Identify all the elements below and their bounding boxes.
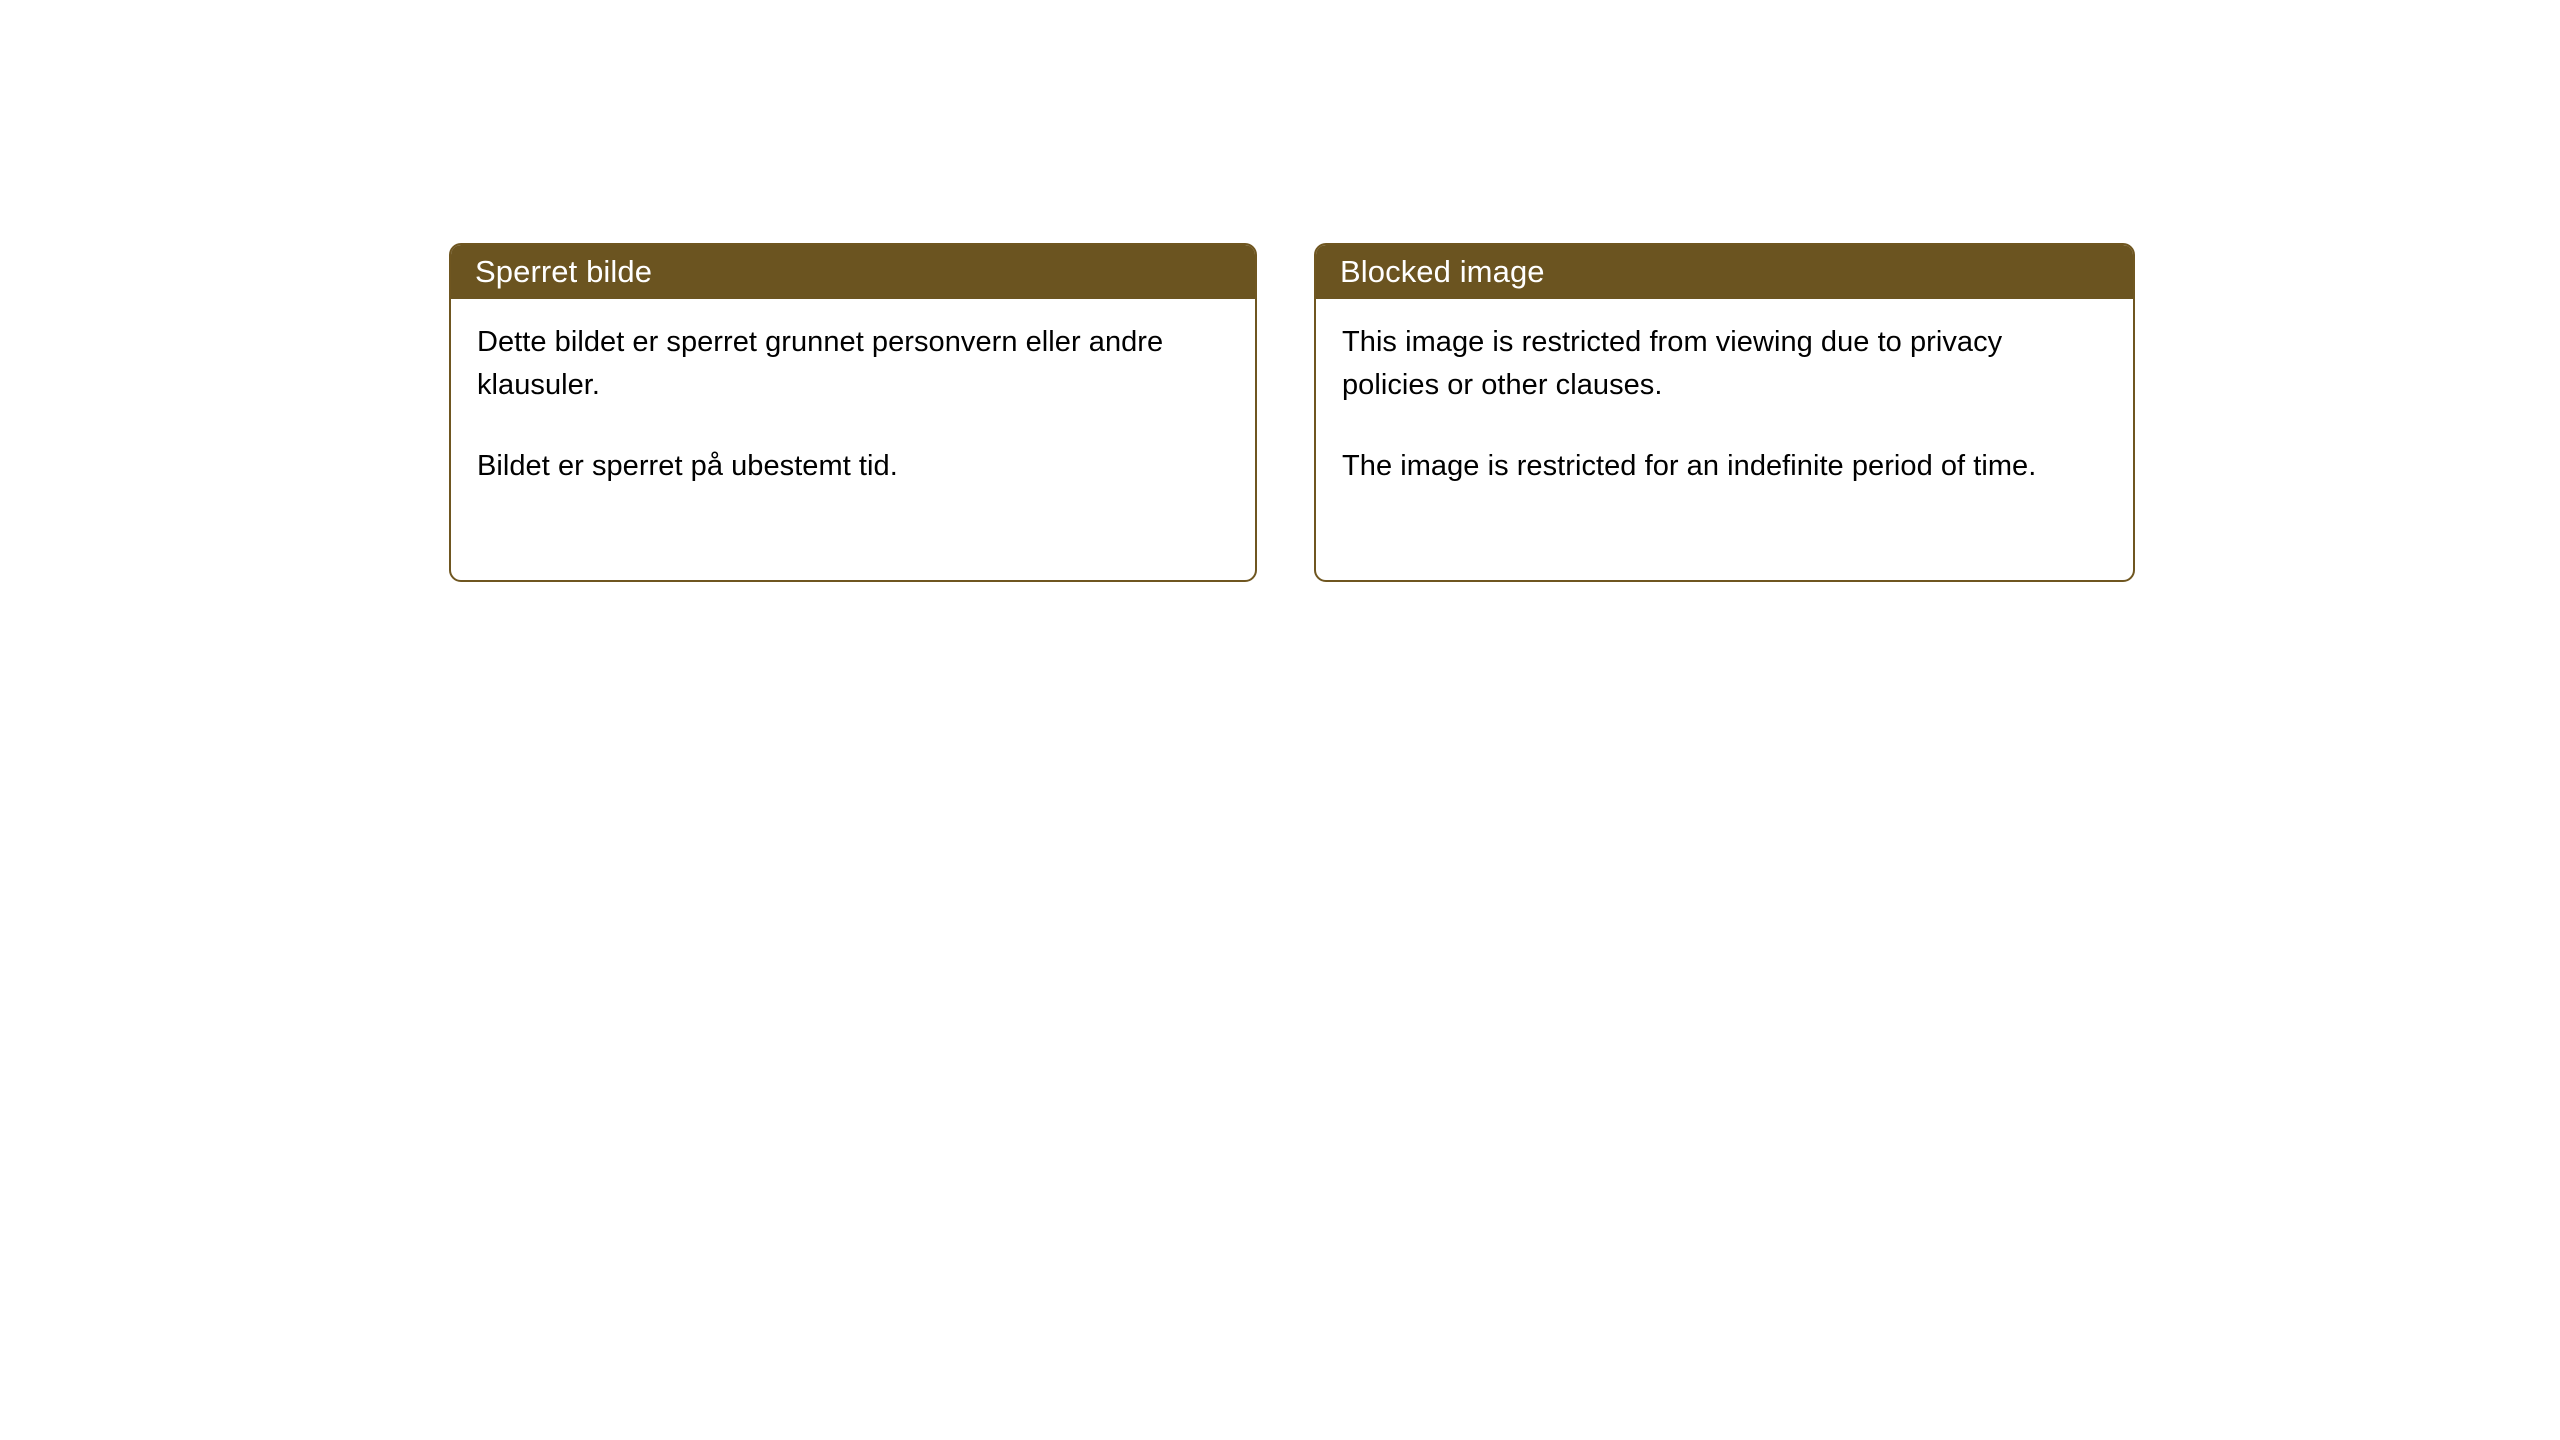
notice-card-header: Blocked image	[1314, 243, 2135, 299]
notice-card-body: Dette bildet er sperret grunnet personve…	[451, 299, 1255, 488]
notice-paragraph-reason: This image is restricted from viewing du…	[1342, 321, 2107, 407]
page-canvas: Sperret bilde Dette bildet er sperret gr…	[0, 0, 2560, 1440]
notice-paragraph-duration: The image is restricted for an indefinit…	[1342, 445, 2107, 488]
notice-paragraph-reason: Dette bildet er sperret grunnet personve…	[477, 321, 1177, 407]
blocked-image-notice-card-norwegian: Sperret bilde Dette bildet er sperret gr…	[449, 243, 1257, 582]
notice-card-title: Sperret bilde	[475, 256, 652, 287]
blocked-image-notice-card-english: Blocked image This image is restricted f…	[1314, 243, 2135, 582]
notice-paragraph-duration: Bildet er sperret på ubestemt tid.	[477, 445, 1177, 488]
notice-card-header: Sperret bilde	[449, 243, 1257, 299]
notice-card-body: This image is restricted from viewing du…	[1316, 299, 2133, 488]
notice-card-title: Blocked image	[1340, 256, 1545, 287]
